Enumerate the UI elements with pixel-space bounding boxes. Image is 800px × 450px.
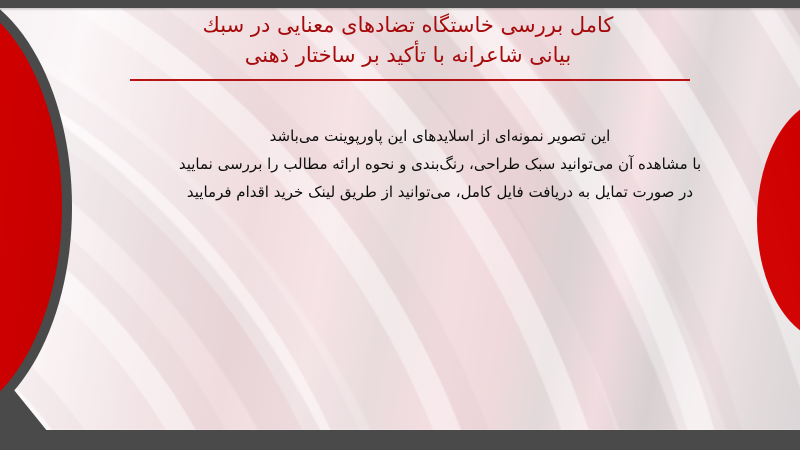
- background-arc-texture-secondary: [0, 8, 800, 432]
- body-line-1: این تصویر نمونه‌ای از اسلایدهای این پاور…: [120, 122, 760, 150]
- body-line-3: در صورت تمایل به دریافت فایل كامل، می‌تو…: [120, 178, 760, 206]
- slide-content-plate: [0, 8, 800, 432]
- background-arc-texture: [0, 8, 800, 432]
- body-line-2: با مشاهده آن می‌توانید سبک طراحی، رنگ‌بن…: [120, 150, 760, 178]
- slide-body: این تصویر نمونه‌ای از اسلایدهای این پاور…: [120, 122, 760, 206]
- title-underline-rule: [130, 79, 690, 81]
- slide-title: كامل بررسی خاستگاه تضادهای معنایی در سبك…: [118, 10, 698, 70]
- bottom-dark-band: [0, 430, 800, 450]
- presentation-slide: كامل بررسی خاستگاه تضادهای معنایی در سبك…: [0, 0, 800, 450]
- slide-title-text: كامل بررسی خاستگاه تضادهای معنایی در سبك…: [118, 10, 698, 70]
